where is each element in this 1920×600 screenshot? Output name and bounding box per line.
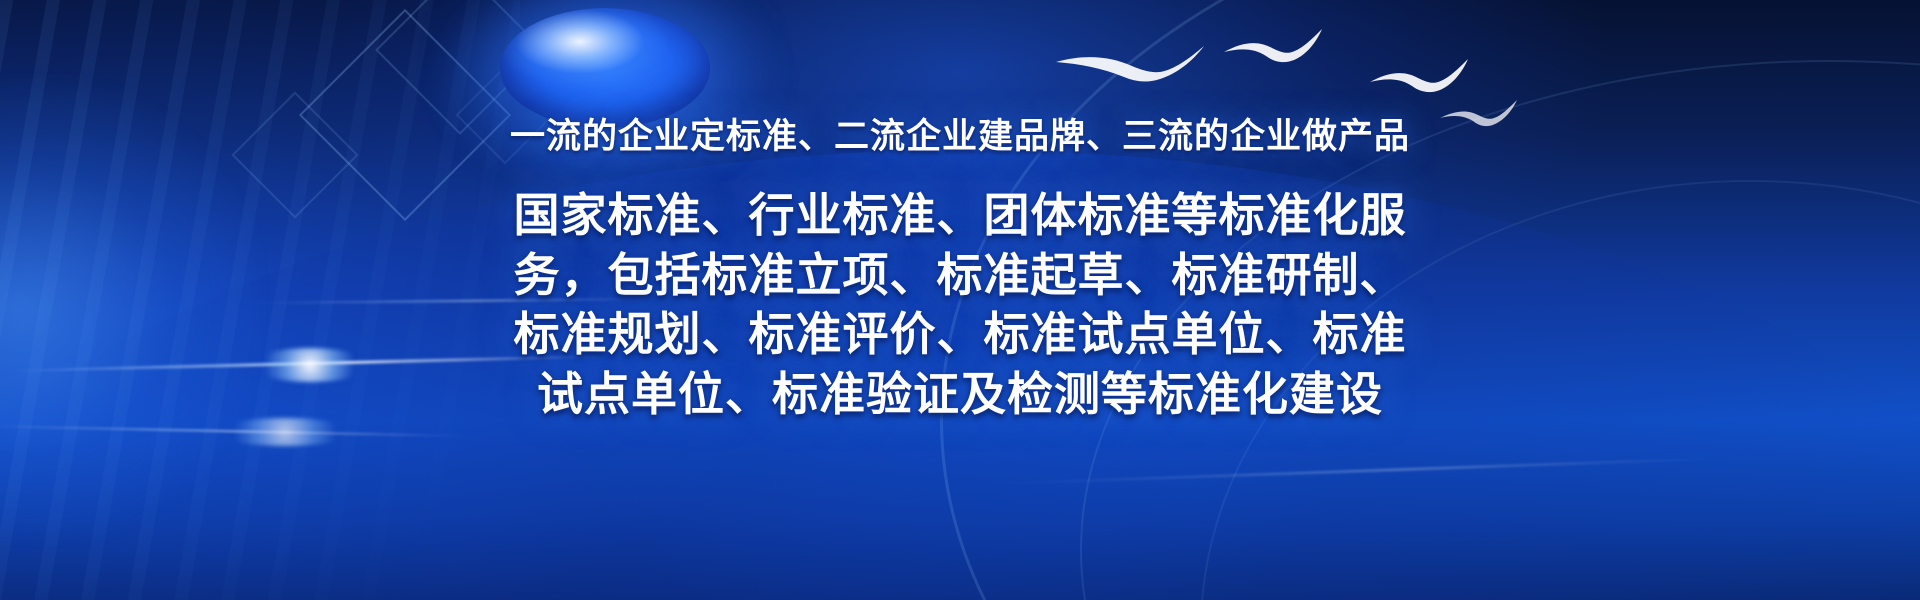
banner-body-text: 国家标准、行业标准、团体标准等标准化服 务，包括标准立项、标准起草、标准研制、 … xyxy=(440,186,1480,425)
body-line: 国家标准、行业标准、团体标准等标准化服 xyxy=(440,186,1480,246)
banner-content: 一流的企业定标准、二流企业建品牌、三流的企业做产品 国家标准、行业标准、团体标准… xyxy=(0,0,1920,600)
body-line: 试点单位、标准验证及检测等标准化建设 xyxy=(440,365,1480,425)
banner-headline: 一流的企业定标准、二流企业建品牌、三流的企业做产品 xyxy=(510,116,1410,160)
body-line: 务，包括标准立项、标准起草、标准研制、 xyxy=(440,246,1480,306)
body-line: 标准规划、标准评价、标准试点单位、标准 xyxy=(440,305,1480,365)
promo-banner: 一流的企业定标准、二流企业建品牌、三流的企业做产品 国家标准、行业标准、团体标准… xyxy=(0,0,1920,600)
